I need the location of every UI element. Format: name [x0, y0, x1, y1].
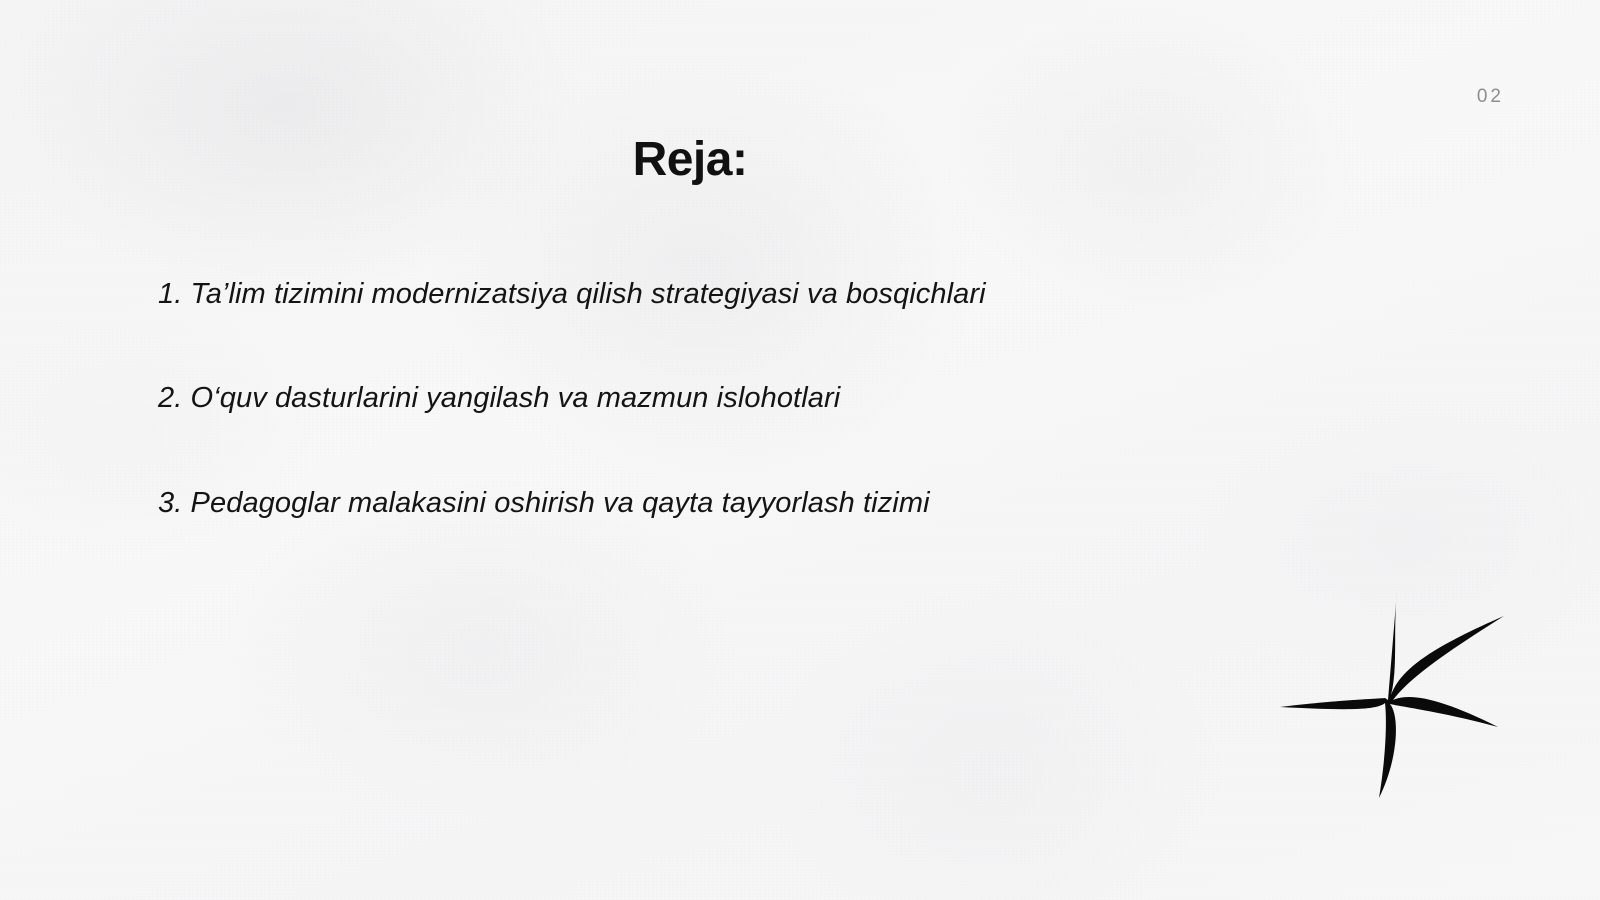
page-number: 02: [1477, 86, 1504, 108]
sparkle-star-path: [1280, 591, 1504, 798]
agenda-list: 1. Ta’lim tizimini modernizatsiya qilish…: [158, 276, 1258, 521]
list-item: 2. O‘quv dasturlarini yangilash va mazmu…: [158, 380, 1258, 416]
list-item: 1. Ta’lim tizimini modernizatsiya qilish…: [158, 276, 1258, 312]
list-item: 3. Pedagoglar malakasini oshirish va qay…: [158, 485, 1258, 521]
slide-canvas: 02 Reja: 1. Ta’lim tizimini modernizatsi…: [0, 0, 1600, 900]
sparkle-star-icon: [1248, 570, 1528, 820]
page-title: Reja:: [0, 132, 1380, 187]
sparkle-star-svg: [1248, 570, 1528, 820]
